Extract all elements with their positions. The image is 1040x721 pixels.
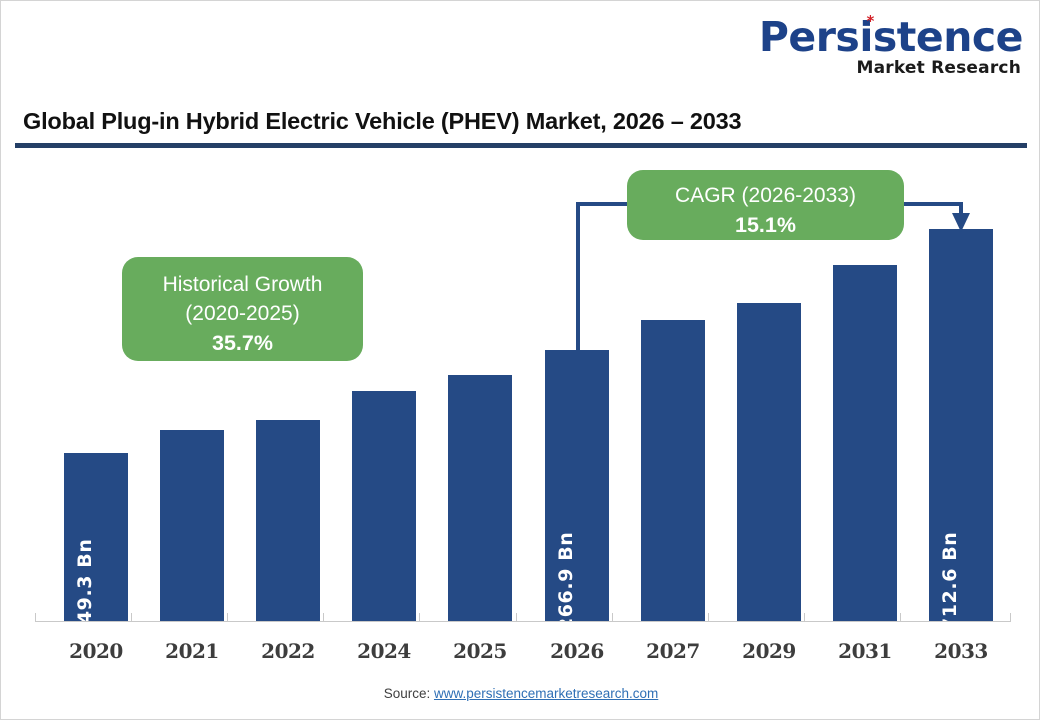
x-axis-label-2029: 2029: [714, 639, 824, 663]
logo-brand-text: Persistence *: [759, 17, 1023, 58]
cagr-callout: CAGR (2026-2033) 15.1%: [627, 170, 904, 240]
x-tick-2022: [227, 613, 228, 622]
x-axis-label-2027: 2027: [618, 639, 728, 663]
historical-growth-line1: Historical Growth: [122, 270, 363, 299]
cagr-percent: 15.1%: [627, 210, 904, 240]
x-axis-line: [35, 621, 1010, 622]
x-tick-2029: [708, 613, 709, 622]
company-logo: Persistence * Market Research: [759, 17, 1023, 77]
x-tick-2027: [612, 613, 613, 622]
x-tick-2026: [516, 613, 517, 622]
title-underline: [15, 143, 1027, 148]
x-axis-label-2025: 2025: [425, 639, 535, 663]
source-line: Source: www.persistencemarketresearch.co…: [1, 686, 1040, 701]
page-title: Global Plug-in Hybrid Electric Vehicle (…: [23, 108, 741, 135]
x-tick-end: [1010, 613, 1011, 622]
bar-2031: [833, 265, 897, 621]
x-axis-label-2033: 2033: [906, 639, 1016, 663]
bar-2026: US$ 266.9 Bn: [545, 350, 609, 621]
bar-2029: [737, 303, 801, 621]
x-tick-2031: [804, 613, 805, 622]
x-axis-label-2031: 2031: [810, 639, 920, 663]
historical-growth-percent: 35.7%: [122, 328, 363, 358]
chart-canvas: Persistence * Market Research Global Plu…: [0, 0, 1040, 720]
x-axis-label-2020: 2020: [41, 639, 151, 663]
bar-2022: [256, 420, 320, 621]
logo-brand-label: Persistence: [759, 13, 1023, 61]
x-tick-2021: [131, 613, 132, 622]
x-axis-label-2021: 2021: [137, 639, 247, 663]
historical-growth-callout: Historical Growth (2020-2025) 35.7%: [122, 257, 363, 361]
cagr-line1: CAGR (2026-2033): [627, 181, 904, 210]
historical-growth-line2: (2020-2025): [122, 299, 363, 328]
source-link[interactable]: www.persistencemarketresearch.com: [434, 686, 658, 701]
bar-2020: US$ 49.3 Bn: [64, 453, 128, 621]
bar-2021: [160, 430, 224, 621]
x-tick-2025: [419, 613, 420, 622]
star-icon: *: [863, 16, 874, 27]
x-tick-2020: [35, 613, 36, 622]
bar-2025: [448, 375, 512, 621]
x-axis-label-2026: 2026: [522, 639, 632, 663]
logo-subtitle: Market Research: [759, 60, 1021, 77]
source-prefix: Source:: [384, 686, 434, 701]
x-tick-2033: [900, 613, 901, 622]
x-axis-label-2022: 2022: [233, 639, 343, 663]
bar-2027: [641, 320, 705, 621]
x-axis-label-2024: 2024: [329, 639, 439, 663]
x-tick-2024: [323, 613, 324, 622]
bar-2033: US$ 712.6 Bn: [929, 229, 993, 621]
bar-2024: [352, 391, 416, 621]
